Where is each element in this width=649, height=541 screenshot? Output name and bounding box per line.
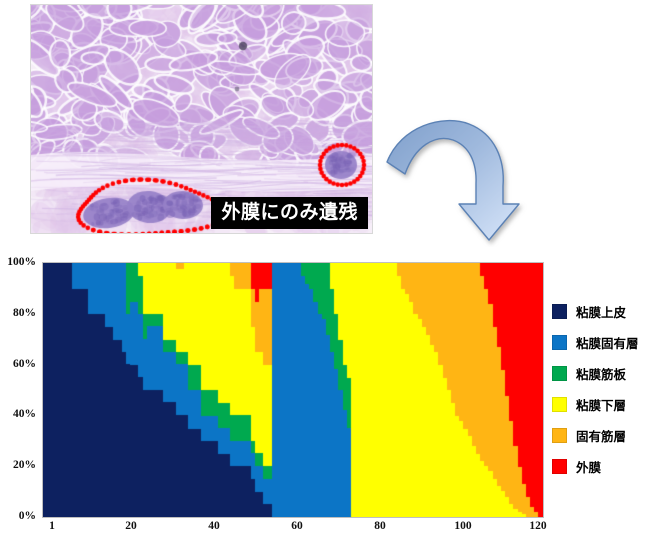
chart-legend: 粘膜上皮 粘膜固有層 粘膜筋板 粘膜下層 固有筋層 外膜: [552, 296, 647, 508]
y-tick-label: 20%: [13, 459, 36, 471]
legend-swatch: [552, 397, 567, 412]
histology-caption: 外膜にのみ遺残: [211, 197, 368, 229]
legend-label: 粘膜下層: [576, 395, 626, 414]
x-tick-label: 80: [374, 520, 386, 532]
legend-label: 外膜: [576, 457, 601, 476]
legend-swatch: [552, 428, 567, 443]
y-tick-label: 60%: [13, 358, 36, 370]
x-tick-label: 20: [125, 520, 137, 532]
x-tick-label: 120: [529, 520, 546, 532]
y-tick-label: 40%: [13, 408, 36, 420]
legend-label: 固有筋層: [576, 426, 626, 445]
legend-label: 粘膜筋板: [576, 364, 626, 383]
y-tick-label: 80%: [13, 307, 36, 319]
legend-swatch: [552, 304, 567, 319]
legend-swatch: [552, 335, 567, 350]
x-tick-label: 100: [454, 520, 471, 532]
y-axis: 100% 80% 60% 40% 20% 0%: [0, 252, 40, 528]
x-tick-label: 40: [208, 520, 220, 532]
x-axis: 1 20 40 60 80 100 120: [42, 518, 542, 540]
curved-down-arrow-icon: [383, 112, 533, 247]
legend-item-muscularis-mucosae: 粘膜筋板: [552, 358, 647, 389]
legend-item-mucosal-epithelium: 粘膜上皮: [552, 296, 647, 327]
x-tick-label: 60: [291, 520, 303, 532]
legend-item-adventitia: 外膜: [552, 451, 647, 482]
y-tick-label: 0%: [19, 510, 36, 522]
x-tick-label: 1: [49, 520, 55, 532]
legend-item-lamina-propria: 粘膜固有層: [552, 327, 647, 358]
legend-label: 粘膜固有層: [576, 333, 639, 352]
legend-item-muscularis-propria: 固有筋層: [552, 420, 647, 451]
legend-swatch: [552, 459, 567, 474]
histology-image-panel: 外膜にのみ遺残: [30, 4, 373, 234]
legend-label: 粘膜上皮: [576, 302, 626, 321]
legend-swatch: [552, 366, 567, 381]
plot-area: [42, 262, 544, 518]
y-tick-label: 100%: [7, 256, 36, 268]
legend-item-submucosa: 粘膜下層: [552, 389, 647, 420]
stacked-bars-canvas: [43, 263, 543, 517]
